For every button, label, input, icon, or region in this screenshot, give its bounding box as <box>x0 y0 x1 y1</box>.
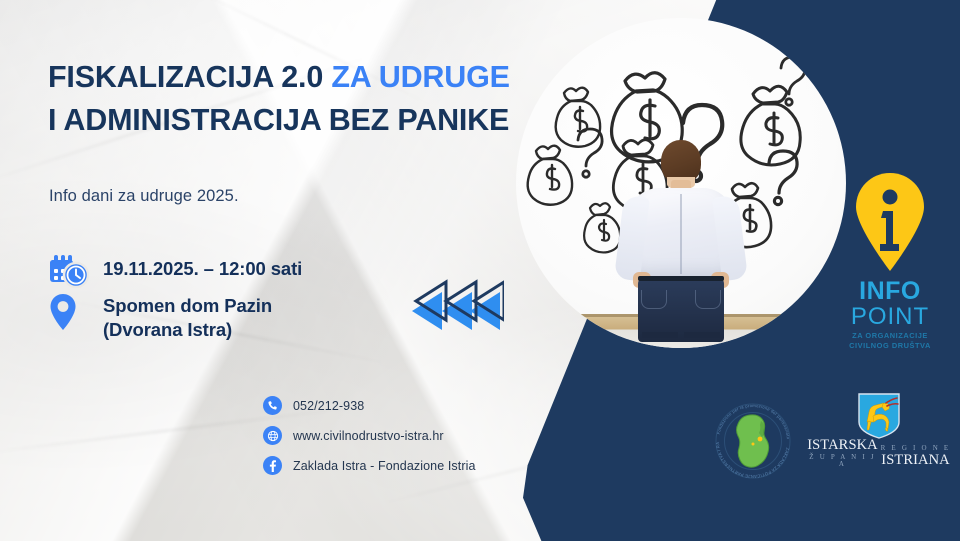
infopoint-logo: INFO POINT ZA ORGANIZACIJE CIVILNOG DRUŠ… <box>829 171 951 351</box>
contact-facebook[interactable]: Zaklada Istra - Fondazione Istria <box>263 456 476 475</box>
page-title: FISKALIZACIJA 2.0 ZA UDRUGE I ADMINISTRA… <box>48 56 518 143</box>
istarska-wordmark-it: R E G I O N E ISTRIANA <box>879 445 952 468</box>
istarska-wordmark-hr: ISTARSKA Ž U P A N I J A <box>806 438 879 468</box>
event-location-row: Spomen dom Pazin (Dvorana Istra) <box>49 292 272 341</box>
istarska-zupanija-logo: ISTARSKA Ž U P A N I J A R E G I O N E I… <box>806 392 952 470</box>
person-leg-right <box>684 332 720 338</box>
infopoint-tagline: ZA ORGANIZACIJE CIVILNOG DRUŠTVA <box>829 331 951 351</box>
infopoint-tagline-line1: ZA ORGANIZACIJE <box>852 331 928 340</box>
venue-hall: (Dvorana Istra) <box>103 319 232 340</box>
globe-icon <box>263 426 282 445</box>
decorative-arrows <box>396 278 504 334</box>
infopoint-info-text: INFO <box>829 279 951 304</box>
phone-icon <box>263 396 282 415</box>
person-illustration <box>617 140 745 340</box>
event-date-text: 19.11.2025. – 12:00 sati <box>103 255 302 281</box>
headline-line1-plain: FISKALIZACIJA 2.0 <box>48 60 331 94</box>
zaklada-istra-logo: Fondazione per la promozione del partena… <box>709 397 797 485</box>
facebook-icon <box>263 456 282 475</box>
contact-list: 052/212-938 www.civilnodrustvo-istra.hr … <box>263 396 476 475</box>
headline-line1-accent: ZA UDRUGE <box>331 60 509 94</box>
event-location-text: Spomen dom Pazin (Dvorana Istra) <box>103 292 272 341</box>
website-text: www.civilnodrustvo-istra.hr <box>293 429 444 443</box>
calendar-clock-icon <box>49 255 89 289</box>
person-legs <box>639 336 723 338</box>
infopoint-point-text: POINT <box>829 304 951 329</box>
person-leg-left <box>642 332 678 338</box>
istarska-sub-hr: Ž U P A N I J A <box>806 454 879 468</box>
venue-name: Spomen dom Pazin <box>103 295 272 316</box>
contact-phone[interactable]: 052/212-938 <box>263 396 476 415</box>
phone-text: 052/212-938 <box>293 399 364 413</box>
contact-website[interactable]: www.civilnodrustvo-istra.hr <box>263 426 476 445</box>
person-head <box>661 140 701 184</box>
subtitle: Info dani za udruge 2025. <box>49 187 239 206</box>
infopoint-tagline-line2: CIVILNOG DRUŠTVA <box>849 341 931 350</box>
person-pocket-left <box>641 290 667 309</box>
hero-photo <box>516 18 846 348</box>
istarska-wordmark: ISTARSKA Ž U P A N I J A R E G I O N E I… <box>806 438 952 468</box>
infopoint-pin-icon <box>853 171 927 275</box>
headline-line2: I ADMINISTRACIJA BEZ PANIKE <box>48 99 518 142</box>
person-belt <box>638 276 724 281</box>
facebook-text: Zaklada Istra - Fondazione Istria <box>293 459 476 473</box>
istarska-sub-it: R E G I O N E <box>879 445 952 452</box>
person-pocket-right <box>695 290 721 309</box>
location-pin-icon <box>49 292 89 334</box>
istarska-main-hr: ISTARSKA <box>806 438 879 453</box>
event-poster: FISKALIZACIJA 2.0 ZA UDRUGE I ADMINISTRA… <box>0 0 960 541</box>
istria-coat-of-arms-icon <box>855 392 903 440</box>
istarska-main-it: ISTRIANA <box>879 453 952 468</box>
event-date-row: 19.11.2025. – 12:00 sati <box>49 255 302 289</box>
